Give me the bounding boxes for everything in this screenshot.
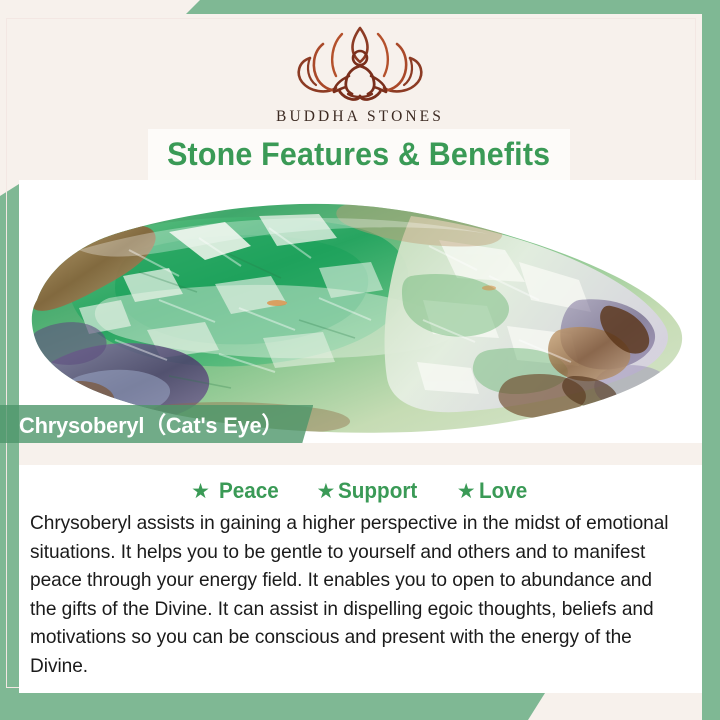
frame-accent-bottom	[0, 693, 720, 720]
star-icon: ★	[457, 481, 476, 502]
benefit-tag-peace: ★ Peace	[191, 478, 282, 504]
benefit-label-peace: Peace	[219, 478, 279, 504]
stone-description: Chrysoberyl assists in gaining a higher …	[30, 509, 680, 680]
benefit-tag-list: ★ Peace ★ Support ★ Love	[19, 465, 702, 511]
brand-logo: BUDDHA STONES	[0, 24, 720, 126]
content-card: ★ Peace ★ Support ★ Love Chrysoberyl ass…	[19, 465, 702, 693]
stone-name-label: Chrysoberyl（Cat's Eye）	[0, 405, 313, 443]
benefit-tag-support: ★ Support	[317, 478, 423, 504]
section-title-band: Stone Features & Benefits	[148, 129, 570, 180]
product-info-card: BUDDHA STONES Stone Features & Benefits	[0, 0, 720, 720]
page-title: Stone Features & Benefits	[167, 136, 550, 173]
stone-photo	[19, 180, 702, 443]
benefit-tag-love: ★ Love	[457, 478, 530, 504]
star-icon: ★	[191, 481, 210, 502]
brand-wordmark: BUDDHA STONES	[0, 108, 720, 126]
benefit-label-love: Love	[479, 478, 527, 504]
lotus-meditation-icon	[0, 24, 720, 106]
divider-strip	[19, 443, 702, 465]
benefit-label-support: Support	[338, 478, 417, 504]
frame-accent-top	[0, 0, 720, 14]
star-icon: ★	[317, 481, 336, 502]
stone-name-text: Chrysoberyl（Cat's Eye）	[19, 408, 283, 440]
